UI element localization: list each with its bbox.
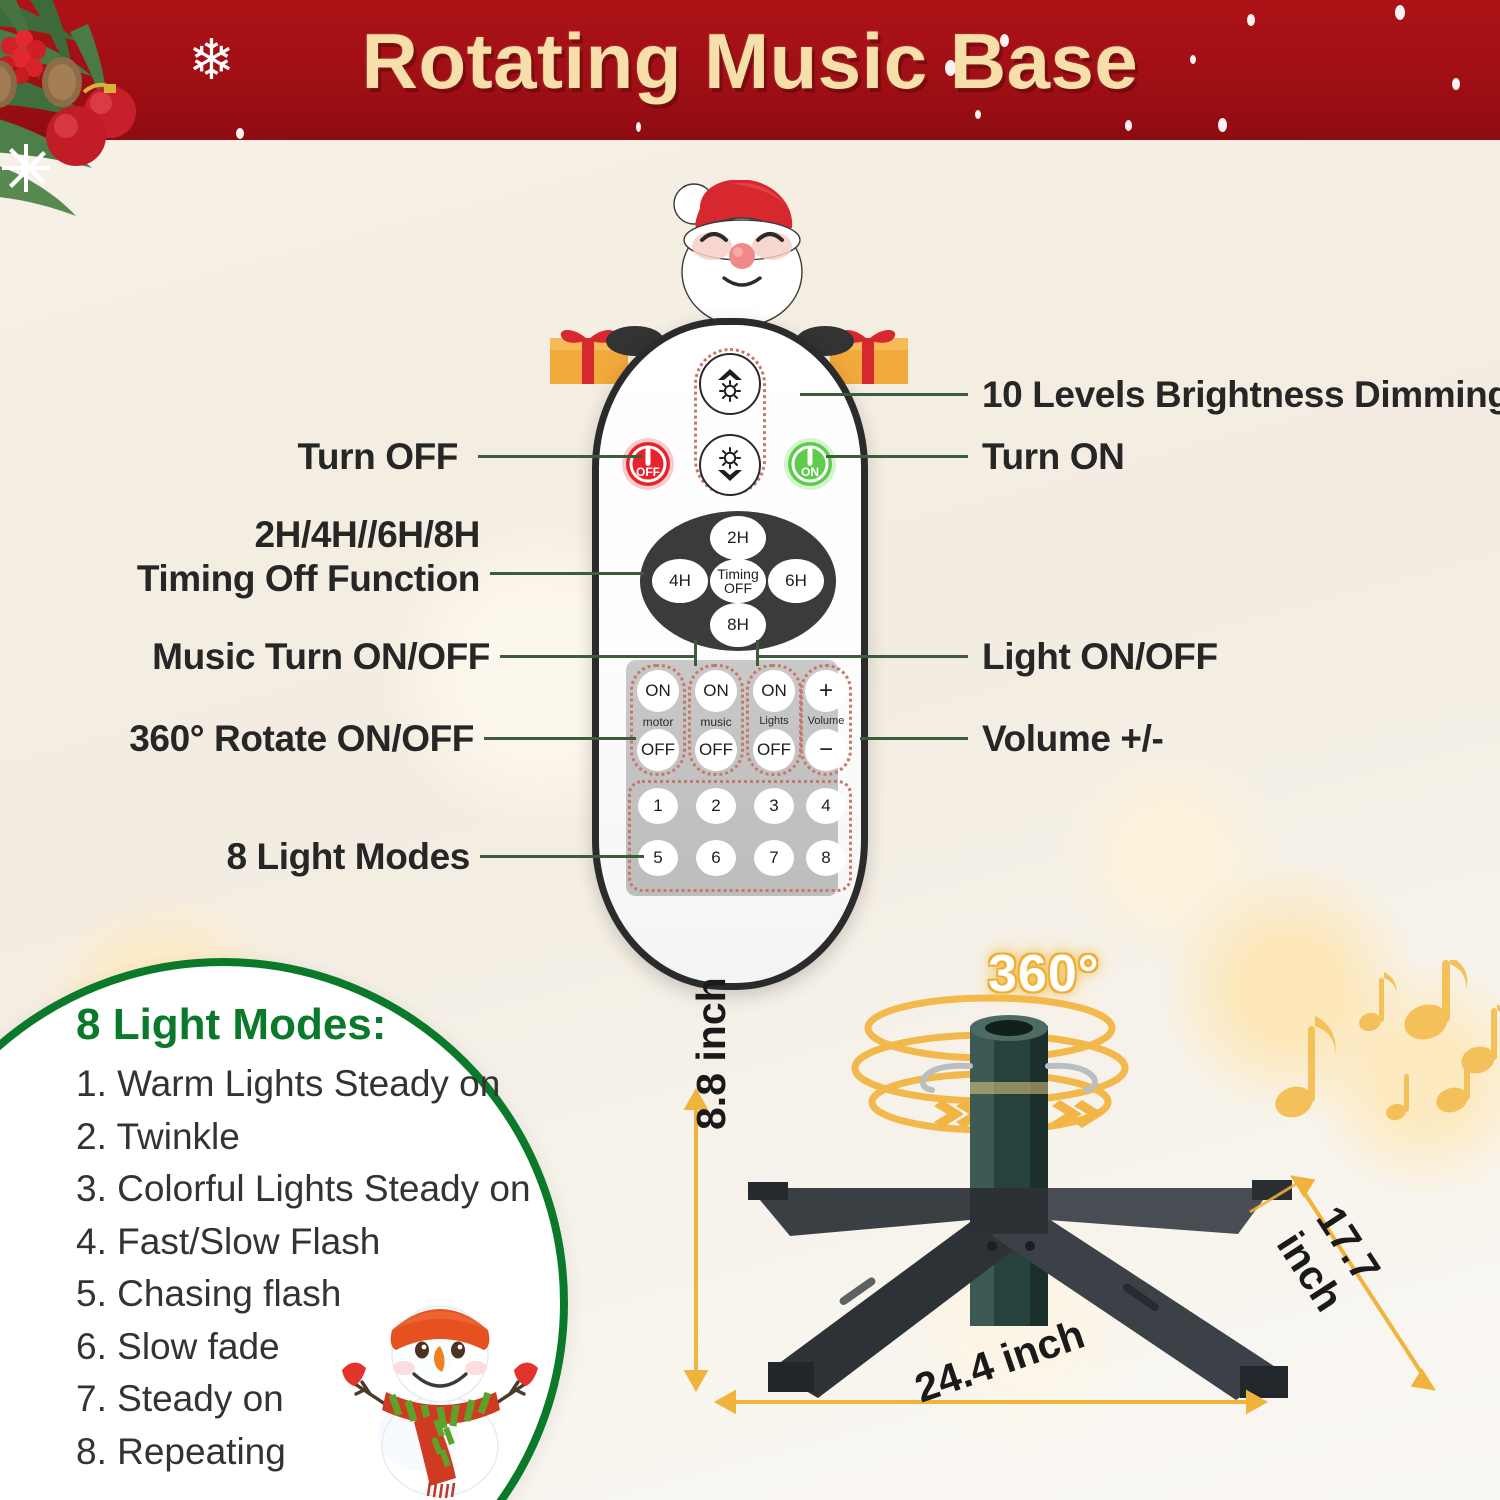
- mode-button-7[interactable]: 7: [754, 840, 794, 876]
- christmas-garland-decoration: [0, 0, 198, 234]
- mode-button-1[interactable]: 1: [638, 788, 678, 824]
- light-modes-title: 8 Light Modes:: [76, 1000, 546, 1050]
- snowman-icon: [330, 1278, 550, 1500]
- music-note-small-1: [1357, 972, 1397, 1034]
- light-mode-item: 2. Twinkle: [76, 1111, 546, 1164]
- mode-button-4[interactable]: 4: [806, 788, 846, 824]
- lights-caption: Lights: [746, 715, 802, 727]
- santa-icon: [636, 180, 848, 340]
- label-light-modes: 8 Light Modes: [226, 836, 470, 878]
- leader-stub-light: [756, 640, 759, 666]
- music-on-button[interactable]: ON: [695, 670, 737, 712]
- snow-dot: [1125, 120, 1132, 131]
- svg-text:ON: ON: [801, 465, 819, 479]
- leader-line-light-toggle: [758, 655, 968, 658]
- label-timing: 2H/4H//6H/8H Timing Off Function: [137, 514, 480, 600]
- mode-button-2[interactable]: 2: [696, 788, 736, 824]
- lights-off-button[interactable]: OFF: [753, 729, 795, 771]
- leader-line-turn-on: [826, 455, 968, 458]
- stand-pole: [970, 1015, 1048, 1326]
- label-turn-on: Turn ON: [982, 436, 1124, 478]
- timer-6h-button[interactable]: 6H: [768, 559, 824, 603]
- motor-on-button[interactable]: ON: [637, 670, 679, 712]
- music-off-button[interactable]: OFF: [695, 729, 737, 771]
- power-off-button[interactable]: OFF: [620, 436, 676, 492]
- label-timing-line1: 2H/4H//6H/8H: [137, 514, 480, 556]
- lights-on-button[interactable]: ON: [753, 670, 795, 712]
- power-on-button[interactable]: ON: [782, 436, 838, 492]
- motor-off-button[interactable]: OFF: [637, 729, 679, 771]
- mode-button-6[interactable]: 6: [696, 840, 736, 876]
- header-banner: ❄ Rotating Music Base: [0, 0, 1500, 140]
- leader-line-rotate: [484, 737, 636, 740]
- label-turn-off: Turn OFF: [297, 436, 458, 478]
- volume-down-button[interactable]: −: [805, 729, 847, 771]
- music-note-small-2: [1384, 1074, 1409, 1123]
- volume-up-button[interactable]: +: [805, 670, 847, 712]
- leader-line-music: [500, 655, 696, 658]
- svg-text:OFF: OFF: [636, 465, 660, 479]
- snow-dot: [975, 110, 981, 119]
- leader-line-turn-off: [478, 455, 642, 458]
- music-note-icon: [1250, 960, 1500, 1150]
- timing-off-button[interactable]: Timing OFF: [710, 559, 766, 603]
- brightness-up-glyph: [706, 360, 754, 408]
- label-volume: Volume +/-: [982, 718, 1163, 760]
- snow-dot: [636, 122, 641, 132]
- timer-2h-button[interactable]: 2H: [710, 516, 766, 560]
- light-mode-item: 1. Warm Lights Steady on: [76, 1058, 546, 1111]
- music-note-small-4: [1458, 1004, 1500, 1078]
- remote-control: OFF ON 2H 4H Timing OFF 6H 8H: [592, 318, 868, 990]
- volume-caption: Volume: [798, 715, 854, 727]
- power-off-icon: OFF: [620, 436, 676, 492]
- brightness-down-icon[interactable]: [699, 434, 761, 496]
- leader-line-timing: [490, 572, 644, 575]
- music-note-beamed: [1400, 960, 1467, 1045]
- snow-dot: [1218, 118, 1227, 132]
- label-light-toggle: Light ON/OFF: [982, 636, 1218, 678]
- music-caption: music: [688, 715, 744, 729]
- timer-4h-button[interactable]: 4H: [652, 559, 708, 603]
- label-dimming: 10 Levels Brightness Dimming: [982, 374, 1500, 416]
- motor-caption: motor: [630, 715, 686, 729]
- infographic-canvas: ❄ Rotating Music Base: [0, 0, 1500, 1500]
- mode-button-8[interactable]: 8: [806, 840, 846, 876]
- label-music-toggle: Music Turn ON/OFF: [152, 636, 490, 678]
- leader-line-volume: [860, 737, 968, 740]
- rotation-badge: 360°: [988, 944, 1100, 1004]
- timing-off-line2: OFF: [724, 581, 752, 595]
- brightness-up-icon[interactable]: [699, 353, 761, 415]
- label-rotate-toggle: 360° Rotate ON/OFF: [129, 718, 474, 760]
- leader-stub-music: [694, 640, 697, 666]
- power-on-icon: ON: [782, 436, 838, 492]
- label-timing-line2: Timing Off Function: [137, 558, 480, 600]
- page-title: Rotating Music Base: [0, 16, 1500, 107]
- mode-button-5[interactable]: 5: [638, 840, 678, 876]
- timing-off-line1: Timing: [717, 567, 759, 581]
- light-mode-item: 4. Fast/Slow Flash: [76, 1216, 546, 1269]
- snow-dot: [236, 128, 244, 139]
- leader-line-modes: [480, 855, 644, 858]
- mode-button-3[interactable]: 3: [754, 788, 794, 824]
- brightness-down-glyph: [706, 441, 754, 489]
- leader-line-dimming: [800, 393, 968, 396]
- music-note-large: [1271, 1016, 1335, 1122]
- height-dimension-label: 8.8 inch: [688, 977, 735, 1130]
- light-mode-item: 3. Colorful Lights Steady on: [76, 1163, 546, 1216]
